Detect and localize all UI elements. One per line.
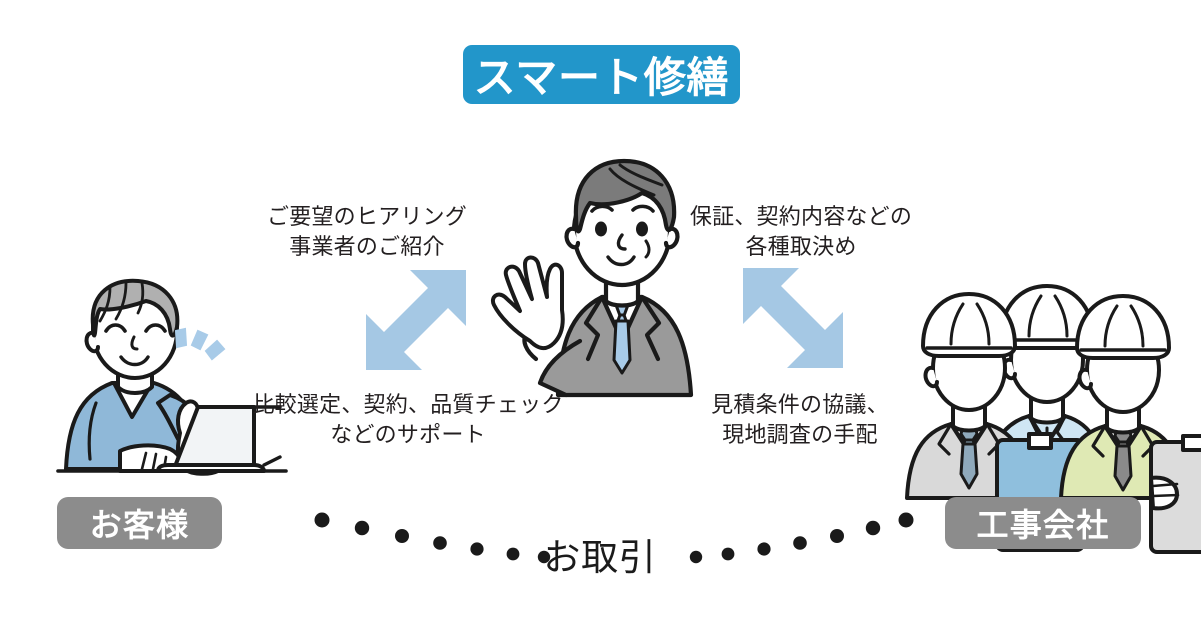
double-headed-arrow-up-right (366, 270, 466, 370)
title-label: スマート修繕 (474, 44, 730, 105)
deal-label: お取引 (520, 527, 680, 581)
center-figure-agent (470, 145, 740, 400)
sparkle-marks (176, 329, 224, 359)
left-figure-customer (58, 283, 286, 495)
diagram-canvas: スマート修繕 (0, 0, 1201, 630)
caption-lower-left: 比較選定、契約、品質チェック などのサポート (243, 390, 573, 451)
role-badge-company: 工事会社 (945, 497, 1141, 549)
role-badge-customer: お客様 (57, 497, 222, 549)
double-headed-arrow-up-left (743, 268, 843, 368)
arrow-right-bidirectional (733, 262, 861, 386)
right-figure-workers (905, 248, 1187, 498)
role-badge-customer-label: お客様 (90, 500, 190, 546)
caption-lower-right: 見積条件の協議、 現地調査の手配 (690, 390, 910, 451)
arrow-left-bidirectional (348, 264, 476, 388)
caption-upper-right: 保証、契約内容などの 各種取決め (668, 202, 934, 263)
title-badge: スマート修繕 (463, 45, 740, 104)
role-badge-company-label: 工事会社 (976, 500, 1109, 546)
caption-upper-left: ご要望のヒアリング 事業者のご紹介 (255, 202, 479, 263)
